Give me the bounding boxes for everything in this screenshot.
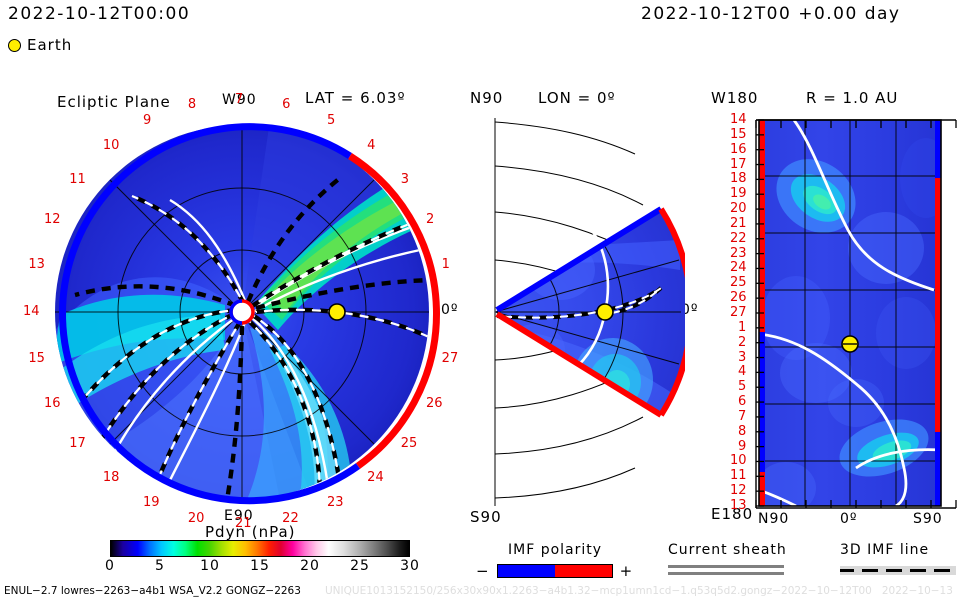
meridional-plane-plot[interactable] [465,110,685,510]
synoptic-label-w180: W180 [711,91,758,106]
synoptic-xtick-zero: 0º [840,512,858,526]
ecliptic-tick-15: 15 [28,352,45,365]
legend-polarity-negative [498,565,555,577]
synoptic-row-25: 25 [730,276,747,289]
synoptic-row-3: 3 [738,351,746,364]
synoptic-row-22: 22 [730,232,747,245]
legend-imf-line: 3D IMF line [840,542,956,575]
synoptic-xtick-s90: S90 [913,512,943,526]
ecliptic-tick-1: 1 [442,258,450,271]
ecliptic-tick-3: 3 [401,173,409,186]
ecliptic-tick-10: 10 [103,139,120,152]
ecliptic-tick-12: 12 [44,213,61,226]
ecliptic-tick-6: 6 [282,98,290,111]
synoptic-row-20: 20 [730,202,747,215]
earth-dot-icon [8,39,21,52]
synoptic-row-2: 2 [738,336,746,349]
colorbar-gradient [110,540,410,557]
ecliptic-tick-4: 4 [367,139,375,152]
synoptic-xtick-n90: N90 [758,512,789,526]
synoptic-axis-frame [740,118,960,510]
ecliptic-tick-26: 26 [426,397,443,410]
colorbar-tick-5: 5 [155,558,165,574]
ecliptic-tick-16: 16 [44,397,61,410]
synoptic-row-26: 26 [730,291,747,304]
synoptic-row-21: 21 [730,217,747,230]
synoptic-row-19: 19 [730,187,747,200]
synoptic-row-5: 5 [738,380,746,393]
synoptic-row-14: 14 [730,113,747,126]
synoptic-row-7: 7 [738,410,746,423]
synoptic-row-1: 1 [738,321,746,334]
header-datetime-left: 2022-10-12T00:00 [8,6,190,23]
ecliptic-tick-18: 18 [103,471,120,484]
ecliptic-tick-2: 2 [426,213,434,226]
legend-imf-line-sample [840,566,956,575]
synoptic-row-6: 6 [738,395,746,408]
synoptic-row-23: 23 [730,247,747,260]
footer-right: UNIQUE1013152150/256x30x90x1.2263−a4b1.3… [325,586,953,597]
header-datetime-right: 2022-10-12T00 +0.00 day [641,6,900,23]
ecliptic-tick-25: 25 [401,437,418,450]
synoptic-row-8: 8 [738,425,746,438]
colorbar-tick-20: 20 [300,558,320,574]
synoptic-row-10: 10 [730,454,747,467]
ecliptic-label-zero: 0º [441,303,459,317]
legend-current-sheath: Current sheath [668,542,787,575]
synoptic-row-16: 16 [730,143,747,156]
synoptic-row-12: 12 [730,484,747,497]
ecliptic-tick-7: 7 [235,93,243,106]
ecliptic-tick-19: 19 [143,496,160,509]
earth-marker-ecliptic [329,304,345,320]
ecliptic-tick-20: 20 [188,512,205,525]
synoptic-row-17: 17 [730,158,747,171]
ecliptic-tick-5: 5 [327,114,335,127]
colorbar-title: Pdyn (nPa) [205,525,296,540]
synoptic-panel-title: R = 1.0 AU [806,91,898,106]
synoptic-row-4: 4 [738,365,746,378]
synoptic-row-11: 11 [730,469,747,482]
colorbar-tick-0: 0 [105,558,115,574]
legend-polarity-plus: + [620,562,634,580]
legend-polarity-positive [555,565,612,577]
earth-legend-key: Earth [8,38,72,53]
synoptic-row-15: 15 [730,128,747,141]
synoptic-row-24: 24 [730,261,747,274]
earth-marker-meridional [597,304,613,320]
legend-imf-polarity: IMF polarity − + [500,542,633,580]
colorbar-tick-10: 10 [200,558,220,574]
colorbar-tick-25: 25 [350,558,370,574]
synoptic-row-27: 27 [730,306,747,319]
synoptic-row-9: 9 [738,440,746,453]
ecliptic-tick-9: 9 [143,114,151,127]
legend-imf-polarity-title: IMF polarity [508,542,633,558]
footer-left: ENUL−2.7 lowres−2263−a4b1 WSA_V2.2 GONGZ… [4,586,301,597]
synoptic-row-18: 18 [730,172,747,185]
ecliptic-tick-23: 23 [327,496,344,509]
earth-legend-label: Earth [27,38,72,53]
colorbar-tick-15: 15 [250,558,270,574]
meridional-panel-title: LON = 0º [538,91,616,106]
legend-polarity-minus: − [476,562,490,580]
ecliptic-tick-13: 13 [28,258,45,271]
ecliptic-tick-24: 24 [367,471,384,484]
ecliptic-plane-plot[interactable] [20,100,460,530]
legend-current-sheath-title: Current sheath [668,542,787,558]
ecliptic-tick-14: 14 [23,305,40,318]
meridional-label-n90: N90 [470,91,503,106]
meridional-label-s90: S90 [470,510,502,525]
ecliptic-tick-27: 27 [442,352,459,365]
ecliptic-tick-11: 11 [69,173,86,186]
colorbar-tick-labels: 051015202530 [110,557,410,573]
colorbar[interactable]: 051015202530 [110,540,410,573]
ecliptic-tick-8: 8 [188,98,196,111]
colorbar-tick-30: 30 [400,558,420,574]
ecliptic-tick-17: 17 [69,437,86,450]
legend-polarity-bar [497,564,613,578]
legend-imf-line-title: 3D IMF line [840,542,956,558]
synoptic-row-13: 13 [730,499,747,512]
legend-current-sheath-sample [668,565,787,575]
